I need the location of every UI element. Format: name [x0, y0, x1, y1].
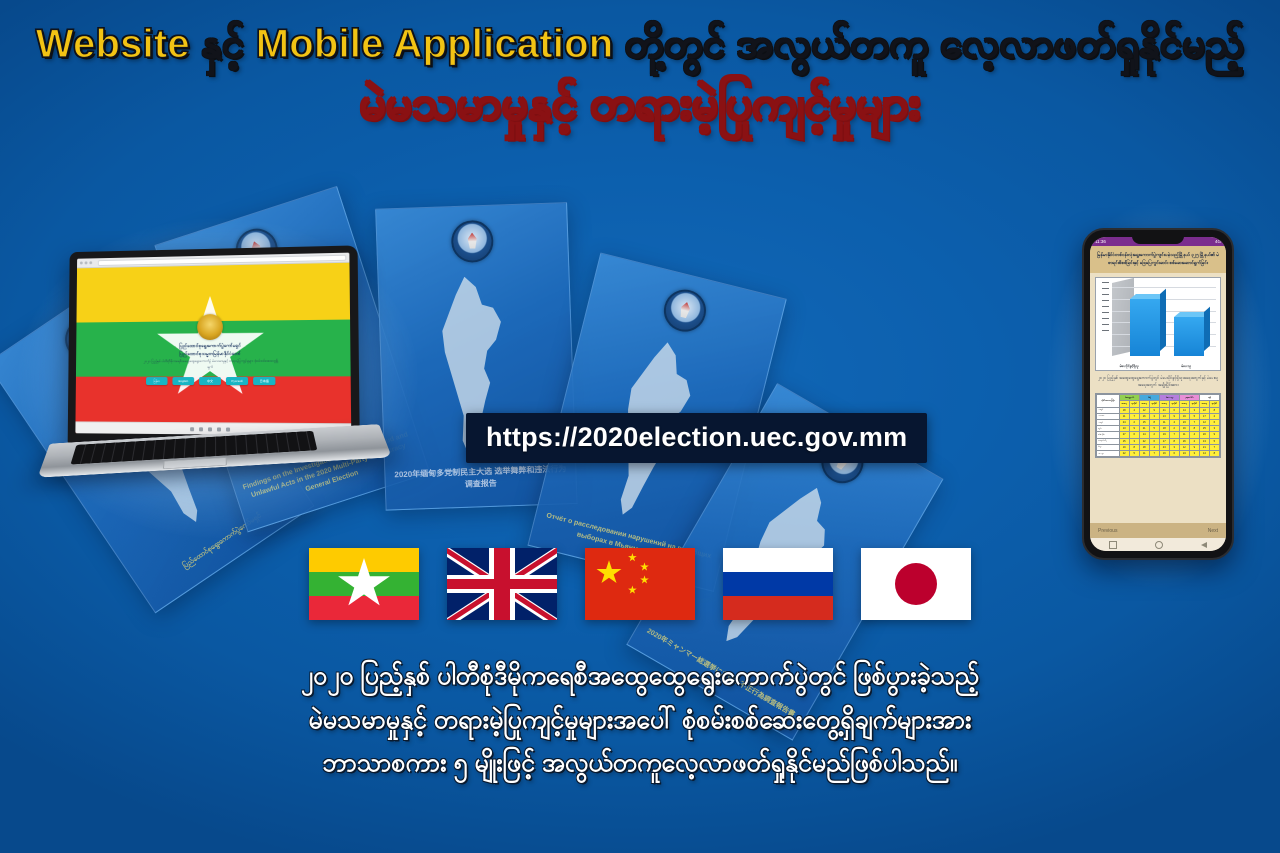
- phone-page-header: မြန်မာနိုင်ငံတစ်ဝန်းလုံးရွေးကောက်ပွဲကျင်…: [1090, 246, 1226, 273]
- chart-y-tick: [1102, 318, 1109, 319]
- footer-line-3: ဘာသာစကား ၅ မျိုးဖြင့် အလွယ်တကူလေ့လာဖတ်ရှ…: [0, 745, 1280, 783]
- language-button-ru[interactable]: Русский: [226, 377, 248, 385]
- japan-flag-icon: [861, 548, 971, 620]
- phone-screen: 11:36 4G မြန်မာနိုင်ငံတစ်ဝန်းလုံးရွေးကော…: [1090, 237, 1226, 551]
- row-label: မကွေး: [1097, 450, 1120, 456]
- china-flag-icon: [585, 548, 695, 620]
- next-button[interactable]: Next: [1208, 528, 1218, 534]
- website-url-banner[interactable]: https://2020election.uec.gov.mm: [466, 413, 927, 463]
- browser-forward-icon[interactable]: [85, 261, 88, 264]
- flag-star: [628, 553, 637, 562]
- table-cell: 8: [1209, 450, 1219, 456]
- chart-bar-side: [1204, 307, 1210, 351]
- title-line-2: မဲမသမာမှုနှင့် တရားမဲ့ပြုကျင့်မှုများ: [0, 77, 1280, 130]
- footer-icon: [208, 427, 212, 431]
- chart-bar-2: [1174, 317, 1204, 356]
- footer-icon: [199, 427, 203, 431]
- table-cell: 11: [1139, 450, 1149, 456]
- previous-button[interactable]: Previous: [1098, 528, 1117, 534]
- site-title-line-2: ပြည်ထောင်စုသမ္မတမြန်မာနိုင်ငံတော်: [180, 350, 241, 358]
- chart-x-label-1: မဲပေးပိုင်ခွင့်ရှိသူ: [1107, 364, 1151, 369]
- chart-y-axis: [1102, 282, 1111, 356]
- chart-bar-side: [1160, 289, 1166, 351]
- flag-star: [628, 585, 637, 594]
- language-button-ja[interactable]: 日本語: [253, 377, 275, 385]
- footer-description: ၂၀၂၀ ပြည့်နှစ် ပါတီစုံဒီမိုကရေစီအထွေထွေရ…: [0, 658, 1280, 789]
- phone-chart-caption: ၂၀၂၀ ပြည့်နှစ် အထွေထွေရွေးကောက်ပွဲတွင် မ…: [1090, 373, 1226, 390]
- chart-y-tick: [1102, 306, 1109, 307]
- language-button-zh[interactable]: 中文: [199, 377, 221, 385]
- table-cell: 6: [1169, 450, 1179, 456]
- uec-seal-icon: [659, 285, 710, 336]
- footer-line-2: မဲမသမာမှုနှင့် တရားမဲ့ပြုကျင့်မှုများအပေ…: [0, 702, 1280, 740]
- russia-flag-icon: [723, 548, 833, 620]
- table-row: မကွေး225117166243148: [1097, 450, 1220, 456]
- language-button-my[interactable]: မြန်မာ: [146, 377, 168, 385]
- flag-star: [640, 562, 649, 571]
- poster-canvas: Website နှင့် Mobile Application တို့တွင…: [0, 0, 1280, 853]
- status-time: 11:36: [1095, 239, 1106, 244]
- table-cell: 24: [1179, 450, 1189, 456]
- browser-window: ပြည်ထောင်စုရွေးကောက်ပွဲကော်မရှင် ပြည်ထော…: [75, 253, 351, 436]
- title-line-1: Website နှင့် Mobile Application တို့တွင…: [0, 22, 1280, 67]
- language-selector-row: မြန်မာ English 中文 Русский 日本語: [146, 377, 275, 385]
- site-subtitle: ၂၀၂၀ ပြည့်နှစ် ပါတီစုံဒီမိုကရေစီအထွေထွေရ…: [141, 359, 280, 371]
- myanmar-flag-icon: [309, 548, 419, 620]
- chart-y-tick: [1102, 294, 1109, 295]
- language-flags-row: [0, 548, 1280, 620]
- chart-bar-1: [1130, 299, 1160, 356]
- table-cell: 3: [1189, 450, 1199, 456]
- chart-y-tick: [1102, 324, 1109, 325]
- uec-seal-icon: [451, 220, 494, 263]
- flag-star: [337, 558, 391, 610]
- flag-disc: [895, 563, 937, 605]
- chart-y-tick: [1102, 288, 1109, 289]
- phone-body: 11:36 4G မြန်မာနိုင်ငံတစ်ဝန်းလုံးရွေးကော…: [1082, 228, 1234, 560]
- website-url-text: https://2020election.uec.gov.mm: [486, 422, 907, 452]
- united-kingdom-flag-icon: [447, 548, 557, 620]
- table-col-header-0: တိုင်းဒေသကြီး: [1097, 395, 1120, 407]
- chart-y-tick: [1102, 330, 1109, 331]
- chart-y-tick: [1102, 282, 1109, 283]
- phone-pagination-bar: Previous Next: [1090, 523, 1226, 538]
- browser-back-icon[interactable]: [80, 261, 83, 264]
- footer-icon: [217, 427, 221, 431]
- chart-bar-face: [1174, 317, 1204, 356]
- table-cell: 5: [1129, 450, 1139, 456]
- chart-plot-area: [1112, 283, 1216, 356]
- laptop-mockup: ပြည်ထောင်စုရွေးကောက်ပွဲကော်မရှင် ပြည်ထော…: [48, 248, 378, 508]
- table-cell: 22: [1119, 450, 1129, 456]
- table-cell: 7: [1149, 450, 1159, 456]
- phone-mockup: 11:36 4G မြန်မာနိုင်ငံတစ်ဝန်းလုံးရွေးကော…: [1082, 228, 1234, 560]
- chart-bar-face: [1130, 299, 1160, 356]
- table-cell: 14: [1199, 450, 1209, 456]
- chart-y-tick: [1102, 300, 1109, 301]
- uec-website-landing: ပြည်ထောင်စုရွေးကောက်ပွဲကော်မရှင် ပြည်ထော…: [75, 263, 351, 436]
- table-body: ကချင်184129216143228 ကယား117163139195172…: [1097, 407, 1220, 457]
- laptop-screen: ပြည်ထောင်စုရွေးကောက်ပွဲကော်မရှင် ပြည်ထော…: [68, 245, 360, 448]
- browser-reload-icon[interactable]: [89, 261, 92, 264]
- footer-icon: [190, 427, 194, 431]
- flag-stripe: [447, 579, 557, 589]
- back-icon[interactable]: [1201, 542, 1207, 548]
- chart-y-tick: [1102, 312, 1109, 313]
- phone-data-table: တိုင်းဒေသကြီး မဲဆန္ဒနယ် မဲရုံ မဲပေးသူ စု…: [1095, 393, 1221, 458]
- poster-title-block: Website နှင့် Mobile Application တို့တွင…: [0, 22, 1280, 130]
- status-network: 4G: [1215, 239, 1221, 244]
- footer-icon: [226, 427, 230, 431]
- table-cell: 16: [1159, 450, 1169, 456]
- flag-star: [640, 575, 649, 584]
- chart-gridline: [1112, 287, 1216, 288]
- language-button-en[interactable]: English: [172, 377, 194, 385]
- phone-bar-chart: မဲပေးပိုင်ခွင့်ရှိသူ မဲပေးသူ: [1095, 277, 1221, 371]
- footer-line-1: ၂၀၂၀ ပြည့်နှစ် ပါတီစုံဒီမိုကရေစီအထွေထွေရ…: [0, 658, 1280, 696]
- chart-x-label-2: မဲပေးသူ: [1164, 364, 1208, 369]
- phone-notch: [1132, 234, 1184, 244]
- flag-star: [596, 560, 622, 585]
